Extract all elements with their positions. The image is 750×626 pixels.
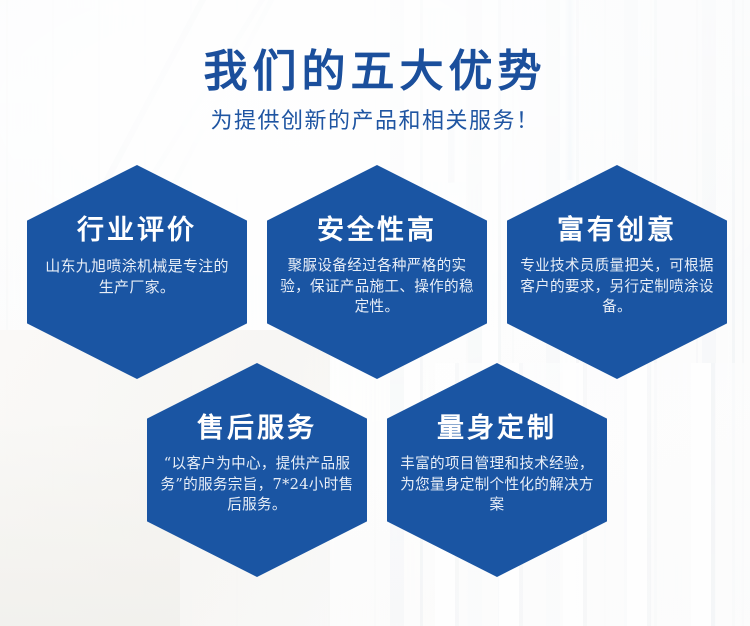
advantage-title: 量身定制 [437, 415, 557, 442]
advantage-title: 安全性高 [317, 217, 437, 244]
advantage-title: 富有创意 [557, 217, 677, 244]
page-title: 我们的五大优势 [0, 50, 750, 94]
advantage-title: 行业评价 [77, 217, 197, 244]
advantage-body: 丰富的项目管理和技术经验，为您量身定制个性化的解决方案 [387, 454, 607, 516]
advantage-title: 售后服务 [197, 415, 317, 442]
advantage-body: 山东九旭喷涂机械是专注的生产厂家。 [27, 256, 247, 299]
advantage-body: 聚脲设备经过各种严格的实验，保证产品施工、操作的稳定性。 [267, 256, 487, 318]
page-subtitle: 为提供创新的产品和相关服务！ [0, 111, 750, 133]
advantage-body: “以客户为中心，提供产品服务”的服务宗旨，7*24小时售后服务。 [147, 454, 367, 516]
header: 我们的五大优势 为提供创新的产品和相关服务！ [0, 0, 750, 133]
advantage-body: 专业技术员质量把关，可根据客户的要求，另行定制喷涂设备。 [507, 256, 727, 318]
